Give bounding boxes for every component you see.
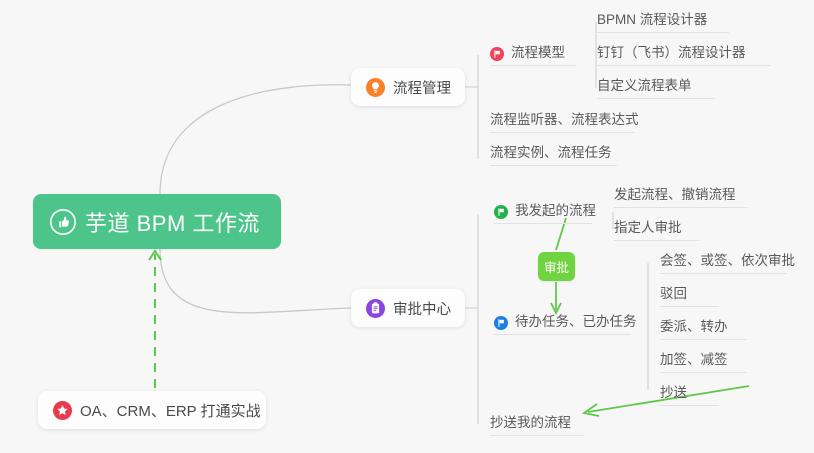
leaf-bpmn-designer[interactable]: BPMN 流程设计器 bbox=[597, 8, 729, 33]
flag-icon-green bbox=[494, 205, 508, 219]
leaf-label: 流程监听器、流程表达式 bbox=[490, 111, 639, 128]
lightbulb-icon bbox=[366, 78, 385, 97]
leaf-label: 自定义流程表单 bbox=[597, 77, 692, 94]
leaf-reject[interactable]: 驳回 bbox=[660, 282, 719, 307]
leaf-label: 待办任务、已办任务 bbox=[515, 313, 637, 330]
leaf-assignee-approval[interactable]: 指定人审批 bbox=[614, 216, 700, 241]
branch-label-process-management: 流程管理 bbox=[393, 77, 451, 98]
leaf-label: 流程模型 bbox=[511, 44, 565, 61]
leaf-label: 流程实例、流程任务 bbox=[490, 144, 612, 161]
leaf-label: BPMN 流程设计器 bbox=[597, 11, 707, 28]
branch-node-approval-center[interactable]: 审批中心 bbox=[351, 289, 465, 327]
star-icon bbox=[53, 401, 72, 420]
link-root-to-process-management bbox=[160, 85, 351, 194]
leaf-start-cancel-process[interactable]: 发起流程、撤销流程 bbox=[614, 183, 748, 208]
link-root-to-approval-center bbox=[160, 249, 351, 313]
leaf-process-listener[interactable]: 流程监听器、流程表达式 bbox=[490, 108, 634, 133]
leaf-process-model[interactable]: 流程模型 bbox=[490, 41, 576, 66]
leaf-label: 抄送我的流程 bbox=[490, 414, 571, 431]
leaf-label: 指定人审批 bbox=[614, 219, 682, 236]
branch-node-process-management[interactable]: 流程管理 bbox=[351, 68, 465, 106]
thumbs-up-icon bbox=[50, 209, 76, 235]
leaf-my-started-process[interactable]: 我发起的流程 bbox=[494, 199, 592, 224]
leaf-delegate-transfer[interactable]: 委派、转办 bbox=[660, 315, 746, 340]
leaf-dingtalk-designer[interactable]: 钉钉（飞书）流程设计器 bbox=[597, 41, 771, 66]
leaf-label: 抄送 bbox=[660, 384, 687, 401]
flag-icon-blue bbox=[494, 316, 508, 330]
approval-tag-label: 审批 bbox=[544, 257, 569, 276]
leaf-label: 委派、转办 bbox=[660, 318, 728, 335]
leaf-label: 会签、或签、依次审批 bbox=[660, 252, 795, 269]
clipboard-icon bbox=[366, 299, 385, 318]
leaf-label: 驳回 bbox=[660, 285, 687, 302]
leaf-cc-my-process[interactable]: 抄送我的流程 bbox=[490, 411, 584, 436]
root-node[interactable]: 芋道 BPM 工作流 bbox=[33, 194, 281, 249]
arrow-cc-head bbox=[584, 404, 599, 416]
mindmap-canvas: 芋道 BPM 工作流 流程管理 审批中心 bbox=[0, 0, 814, 453]
leaf-add-remove-sign[interactable]: 加签、减签 bbox=[660, 348, 746, 373]
arrow-footnote-head bbox=[149, 251, 161, 260]
leaf-custom-form[interactable]: 自定义流程表单 bbox=[597, 74, 715, 99]
leaf-label: 加签、减签 bbox=[660, 351, 728, 368]
footnote-node[interactable]: OA、CRM、ERP 打通实战 bbox=[38, 391, 266, 429]
leaf-label: 我发起的流程 bbox=[515, 202, 596, 219]
leaf-todo-done-task[interactable]: 待办任务、已办任务 bbox=[494, 310, 631, 335]
leaf-label: 钉钉（飞书）流程设计器 bbox=[597, 44, 746, 61]
leaf-countersign[interactable]: 会签、或签、依次审批 bbox=[660, 249, 787, 274]
leaf-cc[interactable]: 抄送 bbox=[660, 381, 719, 406]
leaf-process-instance[interactable]: 流程实例、流程任务 bbox=[490, 141, 617, 166]
footnote-label: OA、CRM、ERP 打通实战 bbox=[80, 400, 261, 421]
branch-label-approval-center: 审批中心 bbox=[393, 298, 451, 319]
approval-tag[interactable]: 审批 bbox=[538, 252, 575, 281]
root-node-label: 芋道 BPM 工作流 bbox=[85, 206, 260, 238]
leaf-label: 发起流程、撤销流程 bbox=[614, 186, 736, 203]
flag-icon-red bbox=[490, 47, 504, 61]
